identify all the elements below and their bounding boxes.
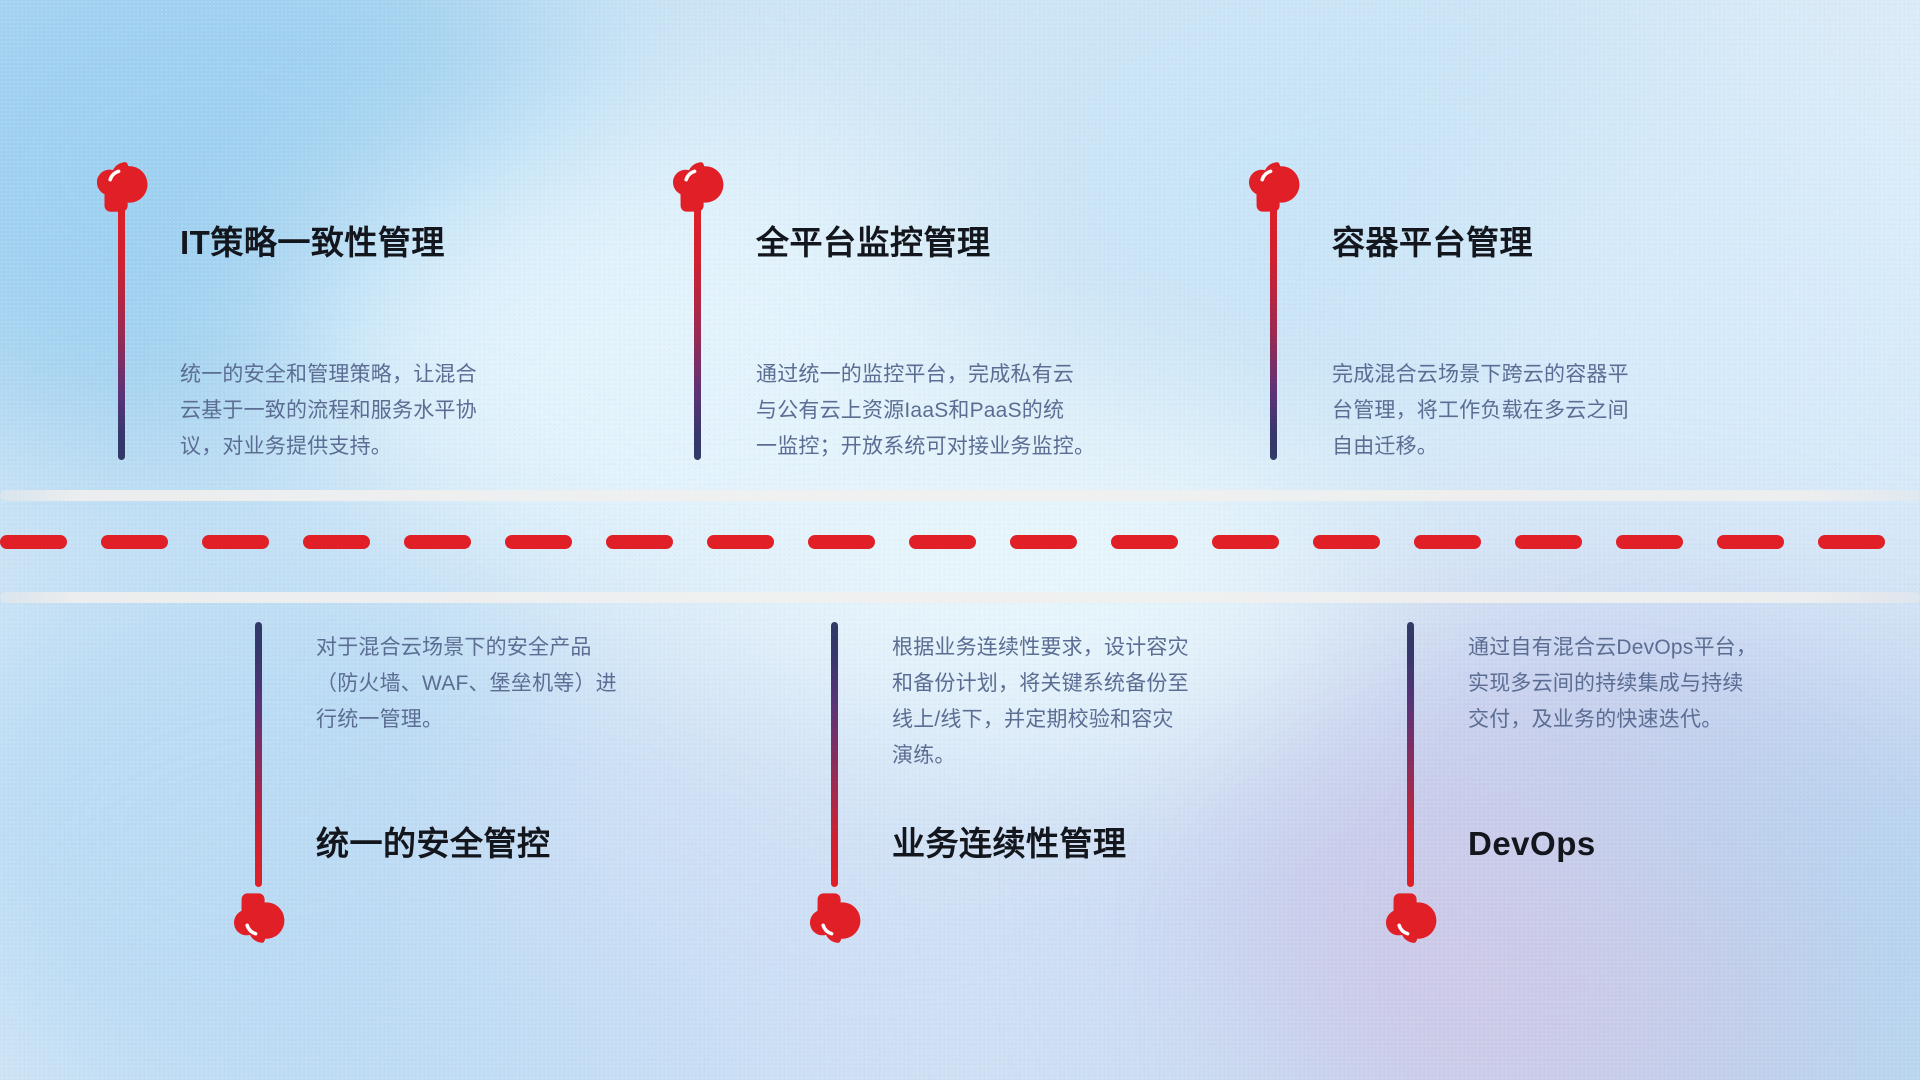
connector-stem — [1407, 622, 1414, 887]
cloud-icon — [1246, 160, 1308, 212]
road-dash — [505, 535, 572, 549]
item-body: 统一的安全和管理策略，让混合 云基于一致的流程和服务水平协 议，对业务提供支持。 — [180, 357, 620, 465]
road-dash — [1616, 535, 1683, 549]
road-dash — [1818, 535, 1885, 549]
road-edge-top — [0, 490, 1920, 501]
road-dash — [202, 535, 269, 549]
road-dash — [303, 535, 370, 549]
road-dash — [606, 535, 673, 549]
item-title: 统一的安全管控 — [316, 824, 551, 864]
road-dash — [101, 535, 168, 549]
item-title: DevOps — [1468, 824, 1596, 864]
road-dash — [1313, 535, 1380, 549]
road-dash — [909, 535, 976, 549]
item-body: 通过自有混合云DevOps平台， 实现多云间的持续集成与持续 交付，及业务的快速… — [1468, 630, 1888, 738]
infographic-canvas: IT策略一致性管理 统一的安全和管理策略，让混合 云基于一致的流程和服务水平协 … — [0, 0, 1920, 1080]
road-dash — [1414, 535, 1481, 549]
item-body: 通过统一的监控平台，完成私有云 与公有云上资源IaaS和PaaS的统 一监控；开… — [756, 357, 1216, 465]
road-edge-bottom — [0, 592, 1920, 603]
item-body: 完成混合云场景下跨云的容器平 台管理，将工作负载在多云之间 自由迁移。 — [1332, 357, 1782, 465]
item-title: 全平台监控管理 — [756, 223, 991, 263]
road-dash — [1111, 535, 1178, 549]
road-dash — [707, 535, 774, 549]
road-dash — [1717, 535, 1784, 549]
item-title: 业务连续性管理 — [892, 824, 1127, 864]
item-body: 根据业务连续性要求，设计容灾 和备份计划，将关键系统备份至 线上/线下，并定期校… — [892, 630, 1322, 774]
connector-stem — [1270, 205, 1277, 460]
road-center-dashes — [0, 535, 1920, 549]
item-body: 对于混合云场景下的安全产品 （防火墙、WAF、堡垒机等）进 行统一管理。 — [316, 630, 736, 738]
road-dash — [0, 535, 67, 549]
item-title: 容器平台管理 — [1332, 223, 1533, 263]
road-dash — [1212, 535, 1279, 549]
connector-stem — [694, 205, 701, 460]
connector-stem — [255, 622, 262, 887]
road-dash — [404, 535, 471, 549]
cloud-icon — [670, 160, 732, 212]
road-dash — [1010, 535, 1077, 549]
road-dash — [808, 535, 875, 549]
cloud-icon — [1383, 893, 1445, 945]
connector-stem — [831, 622, 838, 887]
cloud-icon — [94, 160, 156, 212]
road-dash — [1515, 535, 1582, 549]
cloud-icon — [231, 893, 293, 945]
item-title: IT策略一致性管理 — [180, 223, 445, 263]
connector-stem — [118, 205, 125, 460]
cloud-icon — [807, 893, 869, 945]
